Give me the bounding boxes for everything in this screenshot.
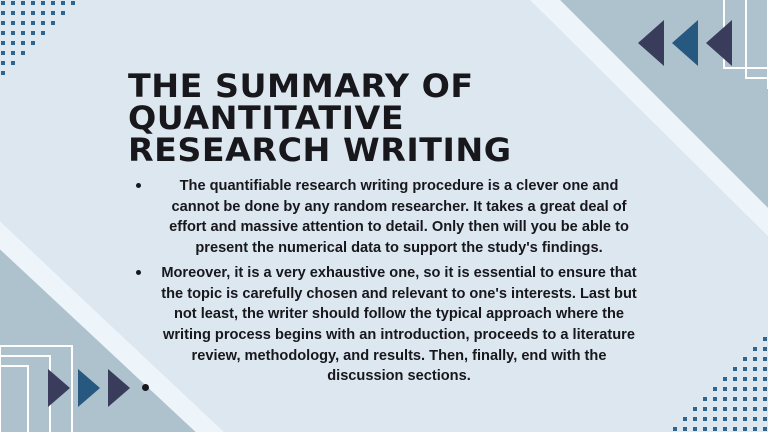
arrow-right-icon-3 xyxy=(108,369,130,407)
page-title: The Summary of Quantitative Research Wri… xyxy=(128,70,660,166)
slide-content: The Summary of Quantitative Research Wri… xyxy=(128,70,640,391)
bullet-point-icon xyxy=(136,183,141,188)
arrow-left-icon-2 xyxy=(672,20,698,66)
arrow-right-icon-1 xyxy=(48,369,70,407)
list-item: The quantifiable research writing proced… xyxy=(128,176,640,259)
bullet-text: Moreover, it is a very exhaustive one, s… xyxy=(128,263,640,387)
dot-grid-bottom-right-icon xyxy=(656,336,768,432)
arrow-left-icon-3 xyxy=(706,20,732,66)
frame-outline-top-right-2 xyxy=(745,0,768,79)
bullet-point-icon xyxy=(136,270,141,275)
frame-outline-bottom-left-1 xyxy=(0,365,29,432)
frame-outline-bottom-left-3 xyxy=(0,345,73,432)
dot-grid-top-left-icon xyxy=(0,0,92,92)
arrow-left-icon-1 xyxy=(638,20,664,66)
bullet-text: The quantifiable research writing proced… xyxy=(128,176,640,259)
list-item: Moreover, it is a very exhaustive one, s… xyxy=(128,263,640,387)
bullet-list: The quantifiable research writing proced… xyxy=(128,176,640,387)
arrow-right-icon-2 xyxy=(78,369,100,407)
frame-outline-top-right-1 xyxy=(723,0,768,69)
frame-outline-bottom-left-2 xyxy=(0,355,51,432)
slide: The Summary of Quantitative Research Wri… xyxy=(0,0,768,432)
